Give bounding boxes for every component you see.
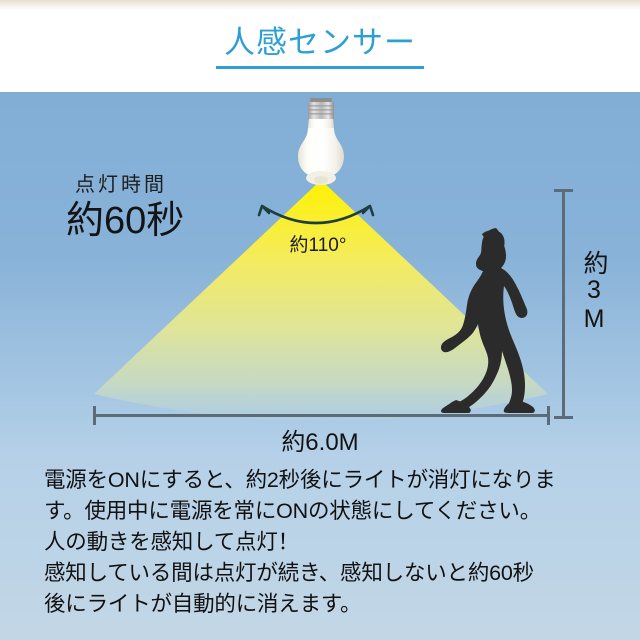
- header-band: 人感センサー: [0, 0, 640, 92]
- description-panel: 電源をONにすると、約2秒後にライトが消灯になりま す。使用中に電源を常にONの…: [0, 452, 640, 640]
- width-dimension-label: 約6.0M: [0, 422, 640, 452]
- height-dimension-cap-bottom: [554, 416, 573, 419]
- description-line: 電源をONにすると、約2秒後にライトが消灯になりま: [44, 465, 600, 496]
- lamp-time-label: 点灯時間: [75, 168, 167, 197]
- description-line: 人の動きを感知して点灯！: [44, 527, 600, 558]
- walking-person-silhouette-icon: [438, 224, 542, 414]
- page-title: 人感センサー: [216, 24, 424, 69]
- height-dimension-line: [562, 190, 565, 418]
- beam-angle-label: 約110°: [248, 230, 388, 257]
- description-line: 後にライトが自動的に消えます。: [44, 589, 600, 620]
- width-dimension-line: [93, 414, 550, 417]
- page-title-wrap: 人感センサー: [0, 24, 640, 69]
- description-line: す。使用中に電源を常にONの状態にしてください。: [44, 496, 600, 527]
- description-line: 感知している間は点灯が続き、感知しないと約60秒: [44, 558, 600, 589]
- description-text-block: 電源をONにすると、約2秒後にライトが消灯になりま す。使用中に電源を常にONの…: [44, 465, 600, 620]
- height-dimension-label: 約3M: [580, 250, 607, 334]
- sensor-diagram-panel: 約110° 点灯時間 約60秒 約3M 約6.0M: [0, 92, 640, 452]
- product-infographic: 人感センサー: [0, 0, 640, 640]
- lamp-time-value: 約60秒: [66, 199, 184, 243]
- bulb-icon: [293, 98, 349, 190]
